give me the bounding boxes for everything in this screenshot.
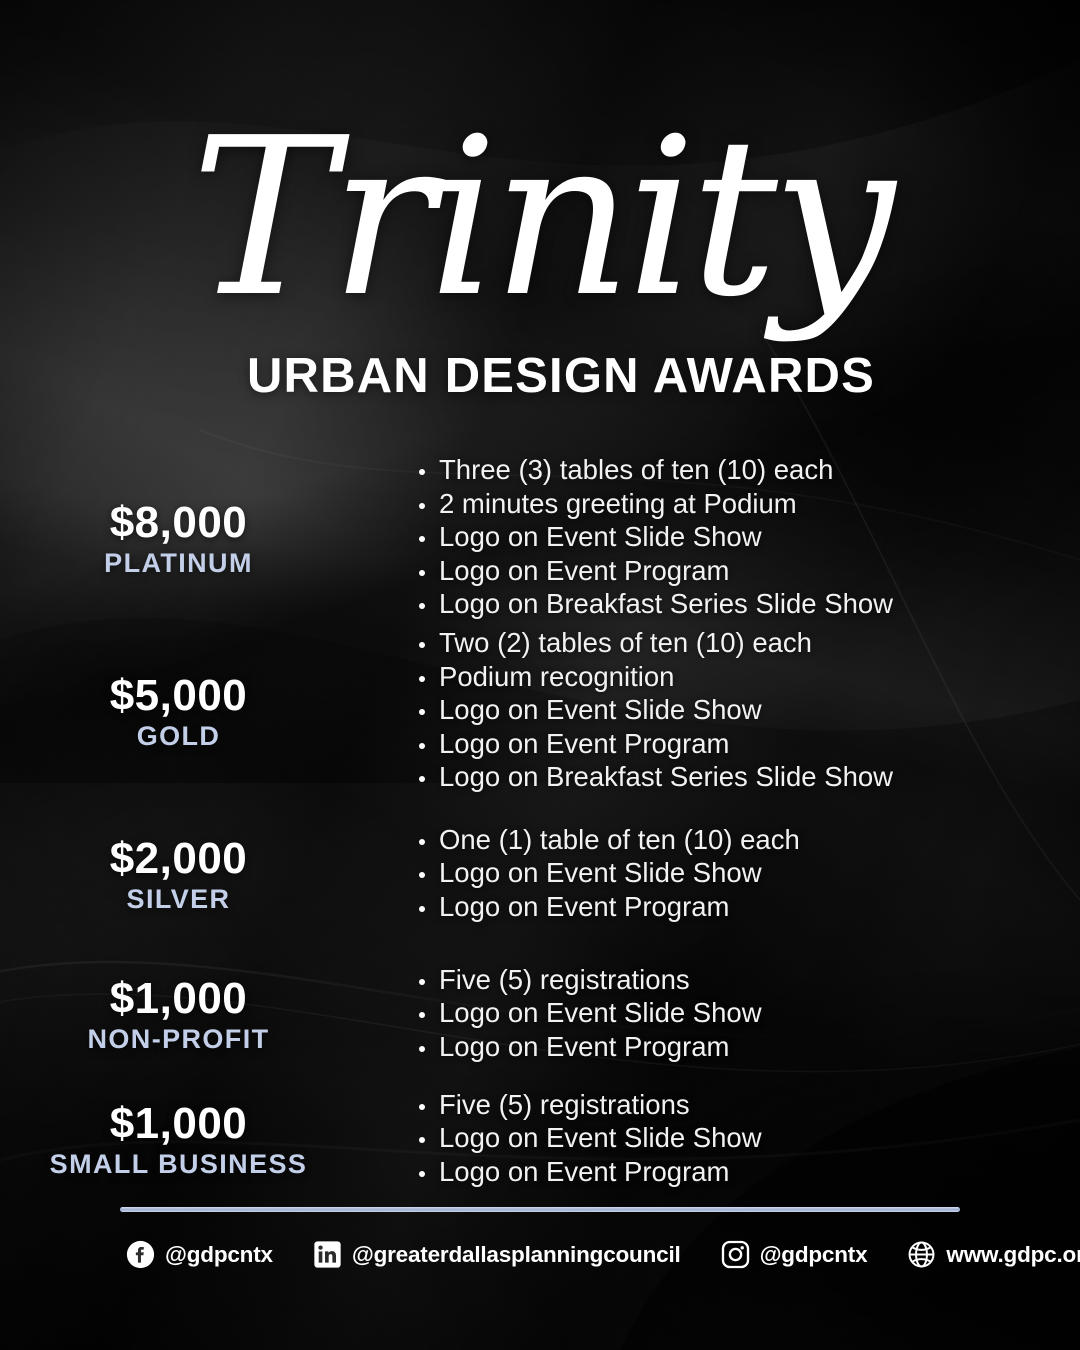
- tier-row: $8,000 PLATINUM Three (3) tables of ten …: [0, 455, 1080, 625]
- brand-subtitle: URBAN DESIGN AWARDS: [0, 348, 1080, 404]
- social-link-website[interactable]: www.gdpc.org: [907, 1240, 1080, 1269]
- benefit-item: Logo on Event Slide Show: [419, 523, 1080, 557]
- social-handle: www.gdpc.org: [946, 1242, 1080, 1268]
- benefit-item: Logo on Event Program: [419, 1033, 1080, 1067]
- tier-label: NON-PROFIT: [0, 1023, 357, 1057]
- benefit-item: Logo on Event Slide Show: [419, 999, 1080, 1033]
- social-handle: @gdpcntx: [165, 1242, 273, 1268]
- brand-script-name: Trinity: [0, 110, 1080, 328]
- social-handle: @greaterdallasplanningcouncil: [352, 1242, 681, 1268]
- benefit-item: Logo on Event Program: [419, 557, 1080, 591]
- linkedin-icon: [313, 1240, 342, 1269]
- tier-label: SMALL BUSINESS: [0, 1148, 357, 1182]
- benefit-list: One (1) table of ten (10) each Logo on E…: [419, 826, 1080, 927]
- social-link-facebook[interactable]: @gdpcntx: [126, 1240, 273, 1269]
- instagram-icon: [721, 1240, 750, 1269]
- benefit-item: 2 minutes greeting at Podium: [419, 490, 1080, 524]
- benefit-list: Three (3) tables of ten (10) each 2 minu…: [419, 456, 1080, 624]
- benefit-item: Logo on Breakfast Series Slide Show: [419, 763, 1080, 797]
- tier-row: $5,000 GOLD Two (2) tables of ten (10) e…: [0, 625, 1080, 801]
- footer-divider: [120, 1207, 960, 1212]
- tier-price-block: $1,000 SMALL BUSINESS: [0, 1100, 405, 1181]
- benefit-list: Five (5) registrations Logo on Event Sli…: [419, 966, 1080, 1067]
- globe-icon: [907, 1240, 936, 1269]
- tier-amount: $8,000: [0, 499, 357, 547]
- benefit-item: Five (5) registrations: [419, 1091, 1080, 1125]
- tier-row: $1,000 SMALL BUSINESS Five (5) registrat…: [0, 1081, 1080, 1201]
- tier-price-block: $2,000 SILVER: [0, 835, 405, 916]
- social-link-linkedin[interactable]: @greaterdallasplanningcouncil: [313, 1240, 681, 1269]
- facebook-icon: [126, 1240, 155, 1269]
- benefit-item: Logo on Event Program: [419, 893, 1080, 927]
- benefit-item: Logo on Event Program: [419, 730, 1080, 764]
- social-handle: @gdpcntx: [760, 1242, 868, 1268]
- benefit-item: Logo on Breakfast Series Slide Show: [419, 590, 1080, 624]
- tier-row: $1,000 NON-PROFIT Five (5) registrations…: [0, 951, 1080, 1081]
- tier-amount: $2,000: [0, 835, 357, 883]
- tier-benefits-block: Five (5) registrations Logo on Event Sli…: [405, 1091, 1080, 1192]
- sponsorship-tiers-poster: Trinity URBAN DESIGN AWARDS $8,000 PLATI…: [0, 0, 1080, 1350]
- benefit-list: Two (2) tables of ten (10) each Podium r…: [419, 629, 1080, 797]
- benefit-item: Three (3) tables of ten (10) each: [419, 456, 1080, 490]
- tier-benefits-block: Two (2) tables of ten (10) each Podium r…: [405, 629, 1080, 797]
- benefit-item: Two (2) tables of ten (10) each: [419, 629, 1080, 663]
- tier-amount: $1,000: [0, 975, 357, 1023]
- tier-benefits-block: Five (5) registrations Logo on Event Sli…: [405, 966, 1080, 1067]
- tier-amount: $5,000: [0, 672, 357, 720]
- tier-benefits-block: One (1) table of ten (10) each Logo on E…: [405, 826, 1080, 927]
- benefit-item: Logo on Event Program: [419, 1158, 1080, 1192]
- benefit-item: Five (5) registrations: [419, 966, 1080, 1000]
- tier-row: $2,000 SILVER One (1) table of ten (10) …: [0, 801, 1080, 951]
- sponsorship-tier-list: $8,000 PLATINUM Three (3) tables of ten …: [0, 455, 1080, 1201]
- tier-label: PLATINUM: [0, 547, 357, 581]
- benefit-item: Podium recognition: [419, 663, 1080, 697]
- tier-price-block: $8,000 PLATINUM: [0, 499, 405, 580]
- tier-price-block: $1,000 NON-PROFIT: [0, 975, 405, 1056]
- tier-amount: $1,000: [0, 1100, 357, 1148]
- benefit-item: Logo on Event Slide Show: [419, 1124, 1080, 1158]
- tier-label: GOLD: [0, 720, 357, 754]
- tier-benefits-block: Three (3) tables of ten (10) each 2 minu…: [405, 456, 1080, 624]
- benefit-list: Five (5) registrations Logo on Event Sli…: [419, 1091, 1080, 1192]
- social-link-instagram[interactable]: @gdpcntx: [721, 1240, 868, 1269]
- benefit-item: Logo on Event Slide Show: [419, 859, 1080, 893]
- logo-header: Trinity URBAN DESIGN AWARDS: [0, 92, 1080, 432]
- tier-label: SILVER: [0, 883, 357, 917]
- tier-price-block: $5,000 GOLD: [0, 672, 405, 753]
- benefit-item: One (1) table of ten (10) each: [419, 826, 1080, 860]
- footer-social-bar: @gdpcntx @greaterdallasplanningcouncil @…: [0, 1240, 1080, 1269]
- benefit-item: Logo on Event Slide Show: [419, 696, 1080, 730]
